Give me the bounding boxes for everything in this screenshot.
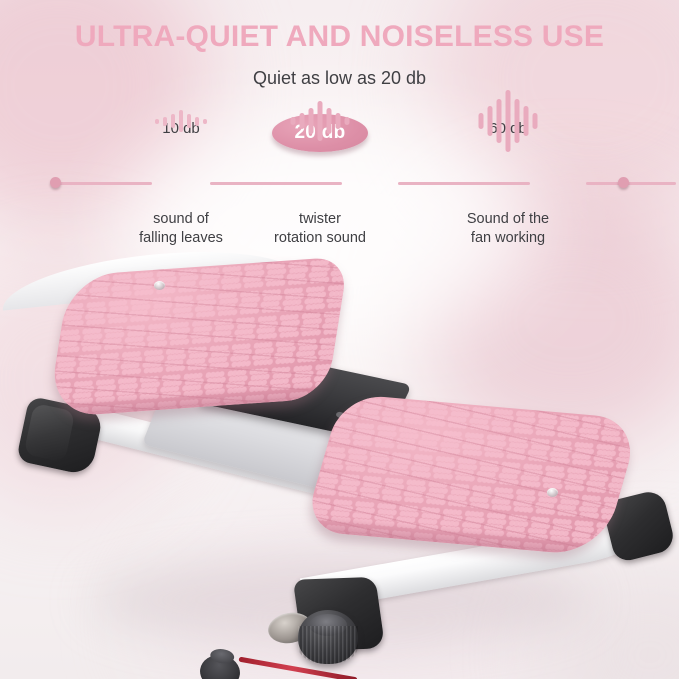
scale-axis: [50, 172, 629, 194]
product-photo-twister-stepper: [0, 255, 679, 679]
caption-60db: Sound of the fan working: [467, 210, 549, 247]
decibel-scale: 10 db sound of falling leaves 20 db twis…: [50, 110, 629, 255]
caption-line: Sound of the: [467, 210, 549, 229]
caption-line: falling leaves: [139, 229, 223, 248]
waveform-icon-60db: [479, 86, 538, 156]
left-pedal-surface: [47, 256, 349, 417]
right-pedal-surface: [303, 393, 641, 556]
product-feature-image: ULTRA-QUIET AND NOISELESS USE Quiet as l…: [0, 0, 679, 679]
waveform-icon-10db: [155, 86, 207, 156]
waveform-icon-20db: [291, 86, 350, 156]
caption-10db: sound of falling leaves: [139, 210, 223, 247]
right-pedal-screw: [547, 488, 558, 497]
axis-segment: [210, 182, 342, 185]
axis-segment: [586, 182, 676, 185]
caption-line: fan working: [467, 229, 549, 248]
headline: ULTRA-QUIET AND NOISELESS USE: [0, 20, 679, 54]
axis-endpoint-dot-right: [618, 177, 629, 188]
right-pedal: [303, 393, 641, 556]
axis-segment: [56, 182, 152, 185]
left-pedal-screw: [154, 281, 165, 290]
caption-line: sound of: [139, 210, 223, 229]
caption-line: rotation sound: [274, 229, 366, 248]
axis-endpoint-dot-left: [50, 177, 61, 188]
left-pedal: [47, 256, 349, 417]
spring-mechanism: [198, 652, 242, 679]
caption-line: twister: [274, 210, 366, 229]
tension-knob: [298, 610, 358, 664]
axis-segment: [398, 182, 530, 185]
knob-ridges: [298, 626, 358, 664]
caption-20db: twister rotation sound: [274, 210, 366, 247]
